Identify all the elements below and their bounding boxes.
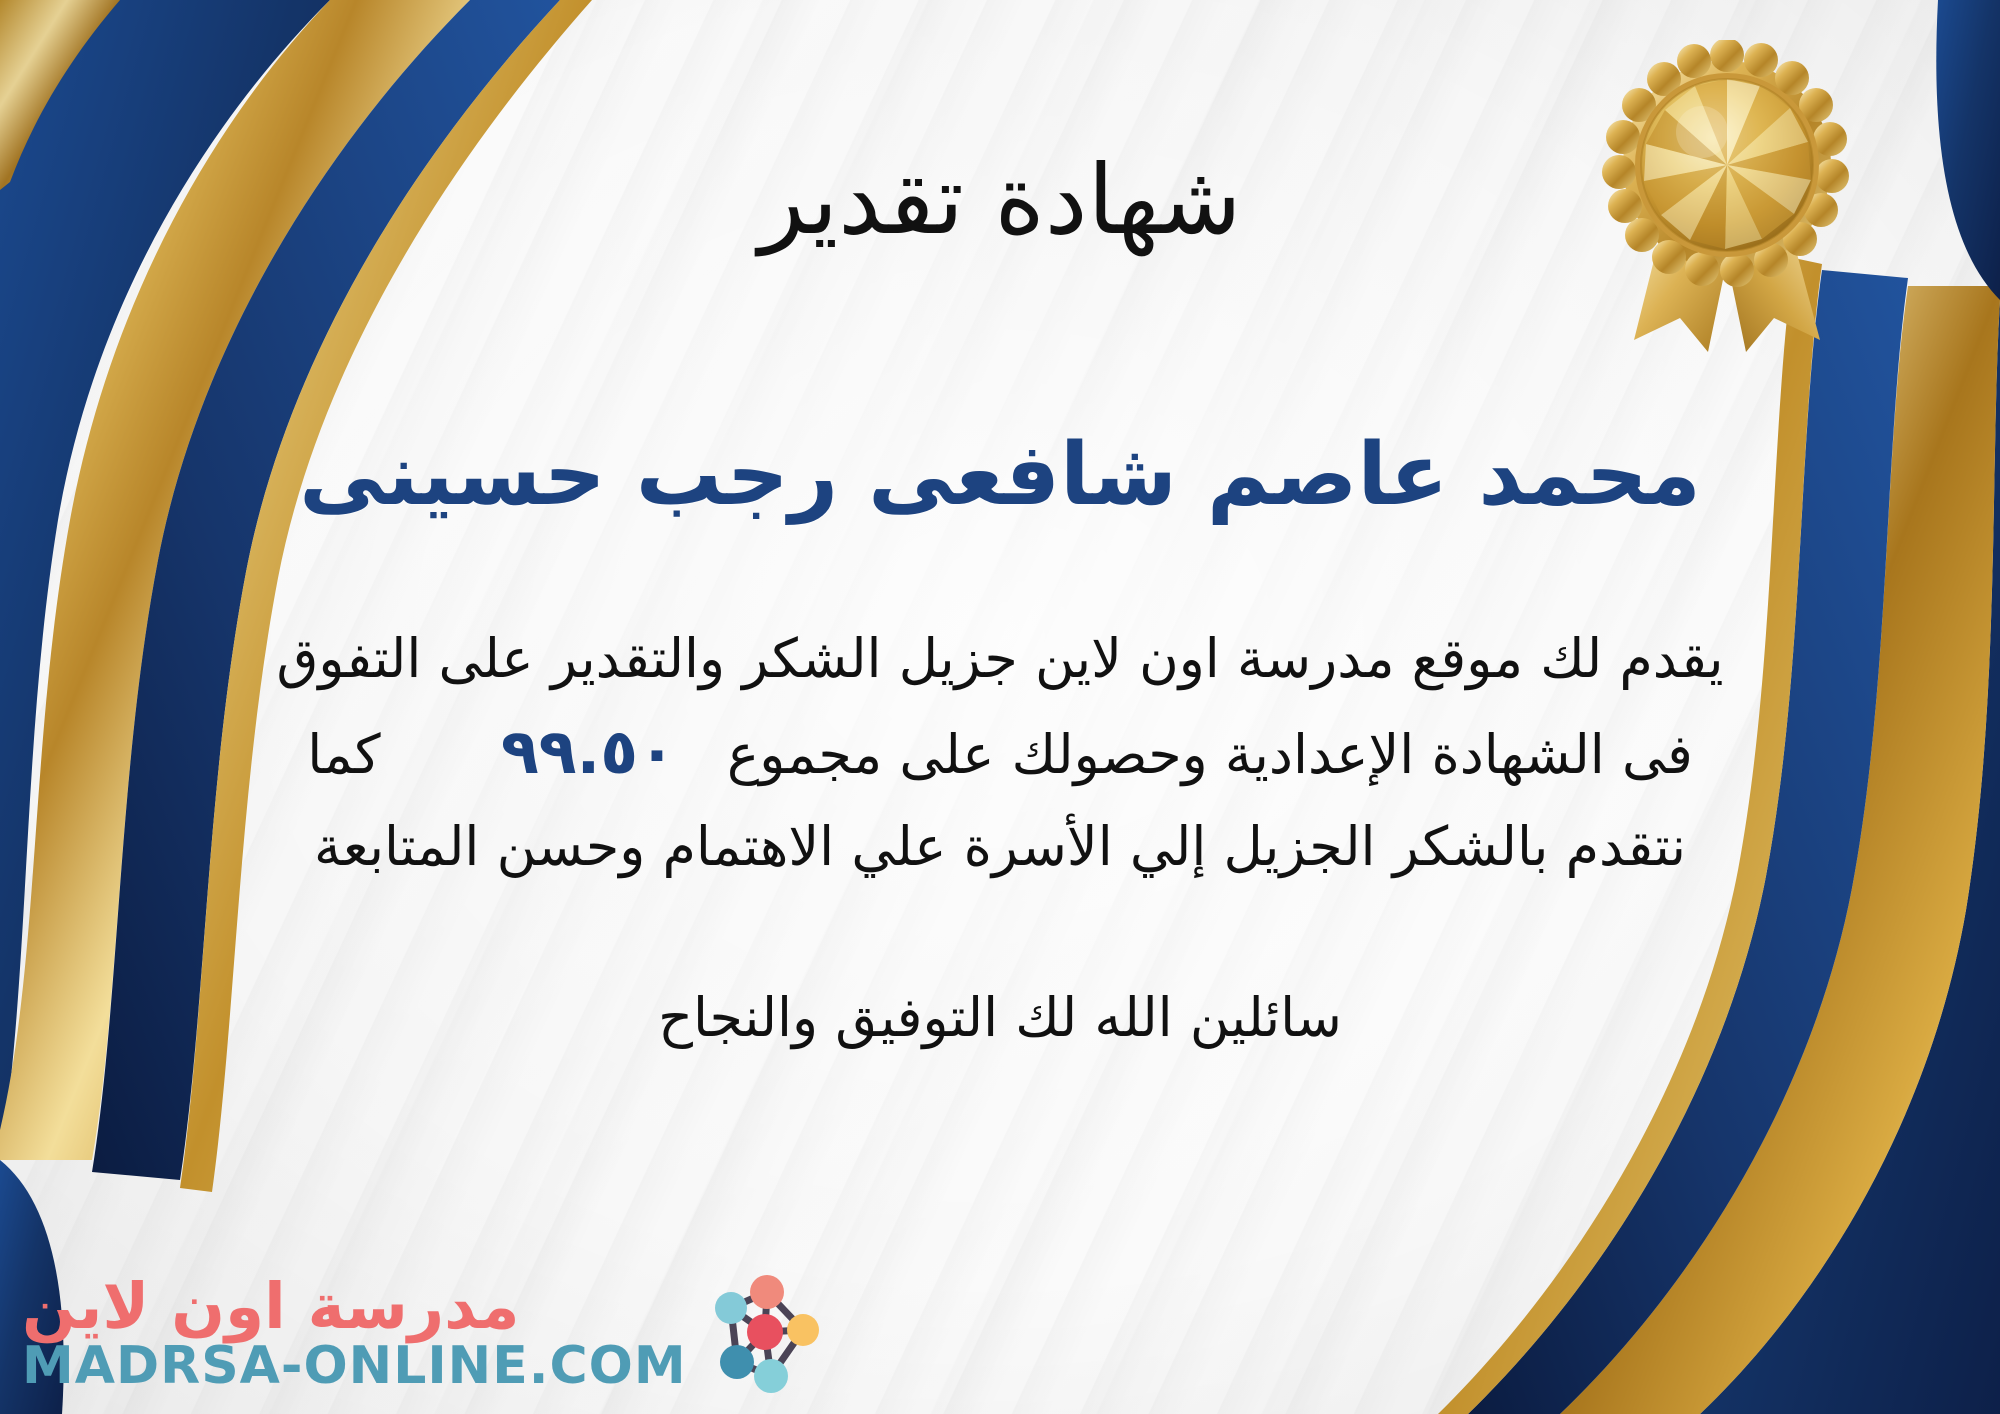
logo-arabic-name: مدرسة اون لاين — [22, 1275, 519, 1339]
certificate-page: شهادة تقدير محمد عاصم شافعى رجب حسينى يق… — [0, 0, 2000, 1414]
certificate-content: شهادة تقدير محمد عاصم شافعى رجب حسينى يق… — [0, 0, 2000, 1414]
body-line-3: نتقدم بالشكر الجزيل إلي الأسرة علي الاهت… — [50, 803, 1950, 890]
logo-text-block: مدرسة اون لاين MADRSA-ONLINE.COM — [22, 1275, 687, 1394]
recipient-name: محمد عاصم شافعى رجب حسينى — [150, 426, 1850, 525]
site-logo[interactable]: مدرسة اون لاين MADRSA-ONLINE.COM — [22, 1270, 829, 1398]
body-line-1: يقدم لك موقع مدرسة اون لاين جزيل الشكر و… — [50, 615, 1950, 702]
score-value: ٩٩.٥٠ — [467, 702, 710, 802]
logo-domain: MADRSA-ONLINE.COM — [22, 1339, 687, 1394]
body-line-2-suffix: كما — [307, 723, 380, 786]
closing-wish: سائلين الله لك التوفيق والنجاح — [50, 986, 1950, 1049]
network-nodes-icon — [697, 1270, 829, 1398]
certificate-body: يقدم لك موقع مدرسة اون لاين جزيل الشكر و… — [50, 615, 1950, 890]
body-line-2: فى الشهادة الإعدادية وحصولك على مجموع ٩٩… — [50, 702, 1950, 802]
certificate-title: شهادة تقدير — [0, 150, 2000, 251]
body-line-2-text: فى الشهادة الإعدادية وحصولك على مجموع — [727, 723, 1693, 786]
